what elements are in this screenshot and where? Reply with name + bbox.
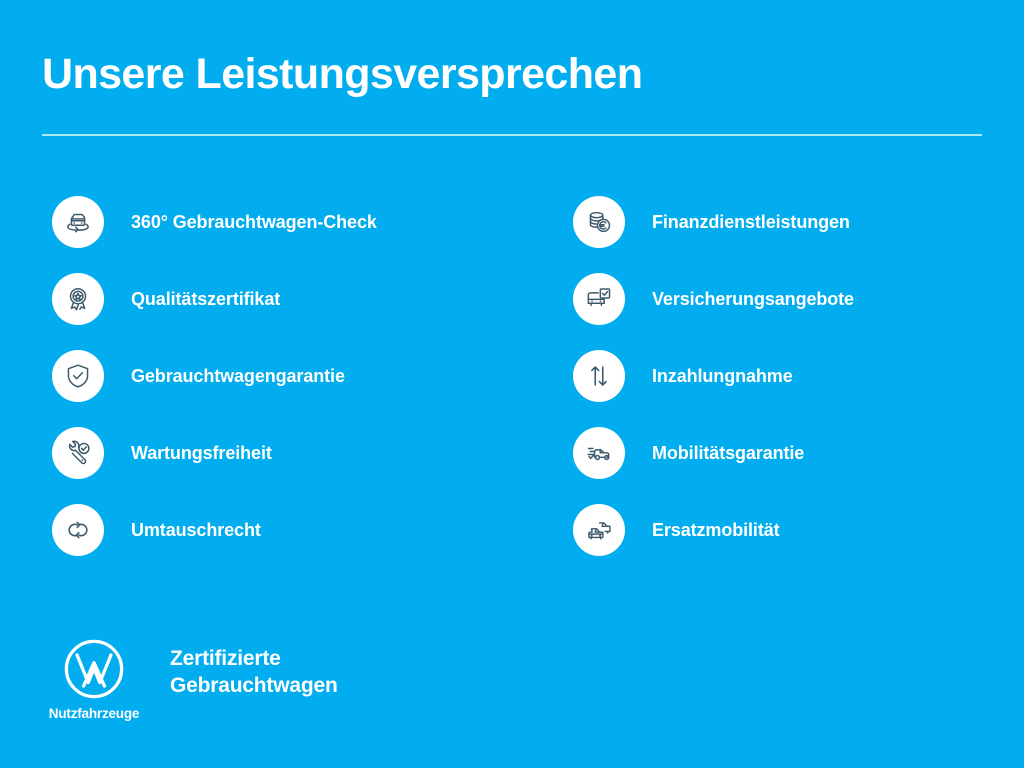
brand-mark: Nutzfahrzeuge [44,638,144,721]
van-motion-check-icon [573,427,625,479]
exchange-arrows-icon [52,504,104,556]
feature-label: 360° Gebrauchtwagen-Check [131,212,377,233]
feature-item-360-check[interactable]: 360° Gebrauchtwagen-Check [52,196,377,248]
feature-item-quality-certificate[interactable]: Qualitätszertifikat [52,273,377,325]
brand-claim-line-1: Zertifizierte [170,646,338,673]
feature-item-return-right[interactable]: Umtauschrecht [52,504,377,556]
brand-subtitle: Nutzfahrzeuge [44,706,144,721]
volkswagen-logo [63,638,125,700]
feature-item-insurance[interactable]: Versicherungsangebote [573,273,854,325]
feature-label: Versicherungsangebote [652,289,854,310]
shield-check-icon [52,350,104,402]
feature-item-trade-in[interactable]: Inzahlungnahme [573,350,854,402]
title-divider [42,134,982,136]
brand-claim-line-2: Gebrauchtwagen [170,673,338,700]
feature-item-financial-services[interactable]: Finanzdienstleistungen [573,196,854,248]
coins-euro-icon [573,196,625,248]
van-document-check-icon [573,273,625,325]
page-title: Unsere Leistungsversprechen [42,52,642,97]
feature-column-right: Finanzdienstleistungen Versicherungsange… [573,196,854,581]
feature-label: Ersatzmobilität [652,520,780,541]
two-cars-icon [573,504,625,556]
feature-item-mobility-guarantee[interactable]: Mobilitätsgarantie [573,427,854,479]
feature-column-left: 360° Gebrauchtwagen-Check Qualitätszerti… [52,196,377,581]
car-360-check-icon [52,196,104,248]
brand-lockup: Nutzfahrzeuge Zertifizierte Gebrauchtwag… [44,638,338,721]
feature-label: Wartungsfreiheit [131,443,272,464]
feature-item-warranty[interactable]: Gebrauchtwagengarantie [52,350,377,402]
feature-label: Gebrauchtwagengarantie [131,366,345,387]
feature-item-maintenance-free[interactable]: Wartungsfreiheit [52,427,377,479]
award-rosette-icon [52,273,104,325]
wrench-check-icon [52,427,104,479]
feature-label: Inzahlungnahme [652,366,793,387]
brand-claim: Zertifizierte Gebrauchtwagen [170,646,338,700]
arrows-up-down-icon [573,350,625,402]
feature-label: Qualitätszertifikat [131,289,280,310]
feature-label: Finanzdienstleistungen [652,212,850,233]
feature-item-replacement-mobility[interactable]: Ersatzmobilität [573,504,854,556]
feature-label: Umtauschrecht [131,520,261,541]
feature-label: Mobilitätsgarantie [652,443,804,464]
